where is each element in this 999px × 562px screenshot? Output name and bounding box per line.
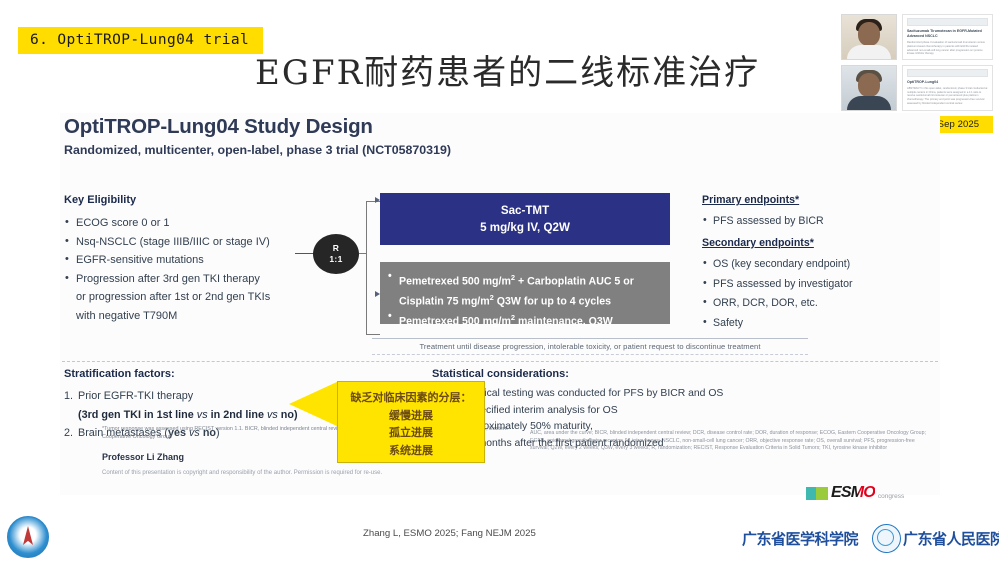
control-regimen-2b: Q3W for up to 4 cycles	[494, 296, 611, 308]
list-item: PFS assessed by investigator	[702, 275, 932, 295]
maintenance-a: Pemetrexed 500 mg/m	[399, 316, 511, 328]
section-divider	[62, 361, 938, 362]
primary-endpoints-list: PFS assessed by BICR	[702, 212, 932, 232]
photo-body	[847, 96, 891, 110]
callout-line-3: 孤立进展	[338, 424, 484, 442]
list-item: Progression after 3rd gen TKI therapy or…	[64, 270, 332, 326]
stratification-heading: Stratification factors:	[64, 368, 175, 380]
study-design-slide: OptiTROP-Lung04 Study Design Randomized,…	[60, 113, 940, 495]
study-design-subtitle: Randomized, multicenter, open-label, pha…	[64, 143, 451, 157]
experimental-arm-box: Sac-TMT 5 mg/kg IV, Q2W	[380, 193, 670, 245]
list-item: ORR, DCR, DOR, etc.	[702, 294, 932, 314]
control-regimen-1a: Pemetrexed 500 mg/m	[399, 276, 511, 288]
photo-body	[847, 45, 891, 59]
list-item: Nsq-NSCLC (stage IIIB/IIIC or stage IV)	[64, 233, 332, 252]
list-item: A prespecified interim analysis for OS a…	[432, 403, 892, 453]
eligibility-list: ECOG score 0 or 1 Nsq-NSCLC (stage IIIB/…	[64, 214, 332, 326]
presenter-name: Professor Li Zhang	[102, 452, 184, 462]
strat-sub-a: (3rd gen TKI in 1st line	[78, 409, 197, 421]
randomization-ratio: 1:1	[313, 254, 359, 265]
list-item: EGFR-sensitive mutations	[64, 251, 332, 270]
randomization-connector-left	[295, 253, 315, 254]
reference-row-1: Sacituzumab Tirumotecan in EGFR-Mutated …	[841, 14, 993, 60]
hospital-logo-icon	[7, 516, 49, 558]
photo-face	[858, 22, 880, 46]
eligibility-line-1: Progression after 3rd gen TKI therapy	[76, 273, 260, 285]
callout-arrow-icon	[289, 381, 339, 427]
statistics-list: Hierarchical testing was conducted for P…	[432, 386, 892, 452]
paper-thumbnail-1: Sacituzumab Tirumotecan in EGFR-Mutated …	[902, 14, 993, 60]
maintenance-b: maintenance, Q3W	[515, 316, 613, 328]
secondary-endpoints-heading: Secondary endpoints*	[702, 237, 814, 249]
copyright-note: Content of this presentation is copyrigh…	[102, 470, 802, 476]
list-item: Pemetrexed 500 mg/m2 maintenance, Q3W	[388, 310, 662, 330]
statistics-heading: Statistical considerations:	[432, 368, 569, 380]
secondary-endpoints-list: OS (key secondary endpoint) PFS assessed…	[702, 255, 932, 333]
study-design-title: OptiTROP-Lung04 Study Design	[64, 115, 373, 139]
paper-thumbnail-2: OptiTROP-Lung04 ABSTRACT In this open-la…	[902, 65, 993, 111]
experimental-arm-dose: 5 mg/kg IV, Q2W	[380, 219, 670, 236]
esmo-wordmark: ESMO	[831, 484, 875, 502]
reference-row-2: OptiTROP-Lung04 ABSTRACT In this open-la…	[841, 65, 993, 111]
institution-right-label: 广东省人民医院	[903, 528, 999, 549]
primary-endpoints-heading: Primary endpoints*	[702, 194, 799, 206]
eligibility-heading: Key Eligibility	[64, 194, 136, 206]
statistics-2-cont1: at approximately 50% maturity,	[445, 419, 892, 436]
paper-body-1: Randomized phase 3 evaluation of sacituz…	[907, 41, 988, 55]
page-title: EGFR耐药患者的二线标准治疗	[255, 45, 760, 94]
strat-vs-1: vs	[197, 409, 208, 421]
control-arm-list: Pemetrexed 500 mg/m2 + Carboplatin AUC 5…	[388, 270, 662, 330]
randomization-label: R	[313, 243, 359, 254]
randomization-brace	[366, 201, 380, 335]
experimental-arm-name: Sac-TMT	[380, 202, 670, 219]
eligibility-line-3: with negative T790M	[76, 307, 332, 326]
list-item: PFS assessed by BICR	[702, 212, 932, 232]
eligibility-line-2: or progression after 1st or 2nd gen TKIs	[76, 288, 332, 307]
statistics-2-cont2: or 24 months after the first patient ran…	[445, 436, 892, 453]
treatment-duration-note: Treatment until disease progression, int…	[372, 338, 808, 355]
institution-left-label: 广东省医学科学院	[742, 528, 858, 549]
control-arm-box: Pemetrexed 500 mg/m2 + Carboplatin AUC 5…	[380, 262, 670, 324]
strat-vs-2: vs	[267, 409, 278, 421]
list-item: Pemetrexed 500 mg/m2 + Carboplatin AUC 5…	[388, 270, 662, 310]
citation: Zhang L, ESMO 2025; Fang NEJM 2025	[363, 528, 536, 539]
author-photo-2	[841, 65, 897, 111]
callout-line-1: 缺乏对临床因素的分层：	[338, 389, 484, 407]
paper-title-2: OptiTROP-Lung04	[907, 80, 988, 85]
list-item: Hierarchical testing was conducted for P…	[432, 386, 892, 403]
photo-face	[858, 73, 880, 97]
randomization-node: R 1:1	[313, 234, 359, 274]
journal-banner	[907, 18, 988, 26]
slide-canvas: 6. OptiTROP-Lung04 trial EGFR耐药患者的二线标准治疗…	[0, 0, 999, 562]
stratification-1-main: Prior EGFR-TKI therapy	[78, 390, 193, 402]
paper-body-2: ABSTRACT In this open-label, randomized,…	[907, 87, 988, 105]
esmo-congress-label: congress	[878, 493, 904, 502]
callout-line-4: 系统进展	[338, 442, 484, 460]
esmo-logo: ESMO congress	[806, 484, 904, 502]
control-regimen-1b: + Carboplatin AUC 5	[515, 276, 620, 288]
author-photo-1	[841, 14, 897, 60]
strat-sub-b: in 2nd line	[208, 409, 267, 421]
list-item: ECOG score 0 or 1	[64, 214, 332, 233]
journal-banner	[907, 69, 988, 77]
section-tag: 6. OptiTROP-Lung04 trial	[18, 27, 263, 54]
institution-seal-icon	[872, 524, 901, 553]
callout-line-2: 缓慢进展	[338, 407, 484, 425]
esmo-square-icon	[806, 487, 828, 500]
list-item: Safety	[702, 314, 932, 334]
paper-title-1: Sacituzumab Tirumotecan in EGFR-Mutated …	[907, 29, 988, 39]
annotation-callout: 缺乏对临床因素的分层： 缓慢进展 孤立进展 系统进展	[337, 381, 485, 463]
list-item: OS (key secondary endpoint)	[702, 255, 932, 275]
